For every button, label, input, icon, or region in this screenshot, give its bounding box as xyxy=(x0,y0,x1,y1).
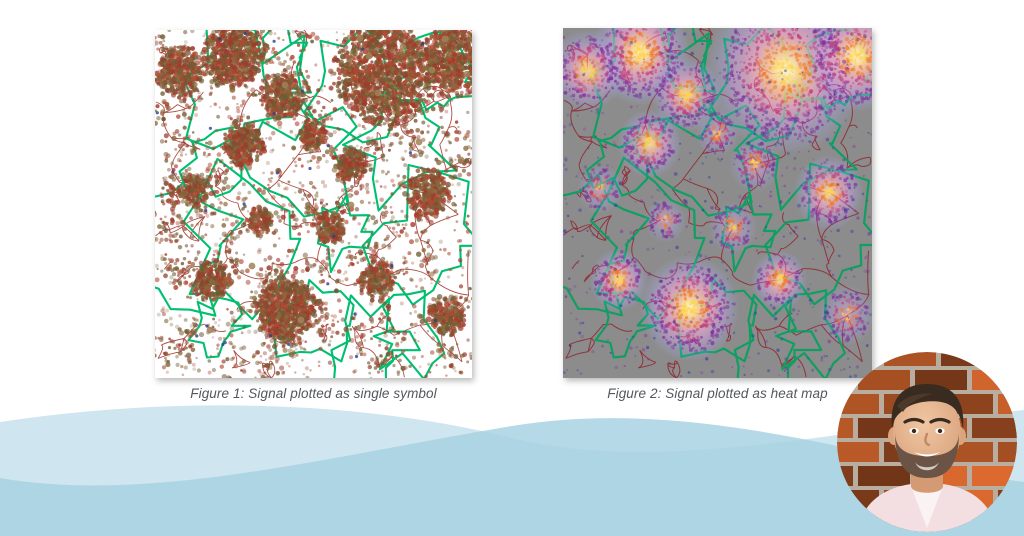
figure-1: Figure 1: Signal plotted as single symbo… xyxy=(155,30,472,378)
signal-point xyxy=(314,319,317,322)
signal-point xyxy=(366,291,369,294)
signal-point xyxy=(343,73,347,77)
signal-point xyxy=(354,99,360,105)
signal-point xyxy=(192,67,195,70)
signal-point xyxy=(385,42,389,46)
signal-point xyxy=(243,142,248,147)
signal-point xyxy=(248,135,251,138)
signal-point xyxy=(395,92,398,95)
signal-point xyxy=(414,109,417,112)
slide-canvas: Figure 1: Signal plotted as single symbo… xyxy=(0,0,1024,536)
signal-point xyxy=(179,99,184,104)
signal-point xyxy=(336,45,339,48)
signal-point xyxy=(265,83,269,87)
signal-point xyxy=(251,43,256,48)
signal-point xyxy=(268,103,272,107)
signal-point xyxy=(246,123,249,126)
signal-point xyxy=(429,37,432,40)
signal-point xyxy=(424,213,428,217)
signal-point xyxy=(379,41,384,46)
signal-point xyxy=(255,138,260,143)
signal-point xyxy=(341,231,345,235)
signal-point xyxy=(413,176,418,181)
signal-point xyxy=(284,324,288,328)
signal-point xyxy=(437,294,442,299)
signal-point xyxy=(332,82,336,86)
signal-point xyxy=(244,54,250,60)
signal-point xyxy=(227,151,232,156)
signal-point xyxy=(213,296,218,301)
signal-point xyxy=(362,109,366,113)
signal-point xyxy=(283,112,288,117)
signal-point xyxy=(214,52,218,56)
signal-point xyxy=(386,37,392,43)
signal-point xyxy=(463,84,467,88)
signal-point xyxy=(401,109,407,115)
signal-point xyxy=(330,71,333,74)
signal-point xyxy=(395,56,400,61)
signal-point xyxy=(355,31,359,35)
signal-point xyxy=(338,51,342,55)
signal-point xyxy=(279,318,282,321)
signal-point xyxy=(232,134,238,140)
signal-point xyxy=(350,116,353,119)
signal-point xyxy=(241,157,246,162)
signal-point xyxy=(376,72,380,76)
signal-point xyxy=(409,99,414,104)
signal-point xyxy=(293,92,297,96)
signal-point xyxy=(460,37,464,41)
signal-point xyxy=(408,115,413,120)
signal-point xyxy=(403,74,408,79)
signal-point xyxy=(401,63,407,69)
signal-point xyxy=(332,167,338,173)
signal-point xyxy=(207,272,212,277)
signal-point xyxy=(331,220,335,224)
signal-point xyxy=(214,35,218,39)
signal-point xyxy=(384,292,388,296)
signal-point xyxy=(382,30,388,36)
signal-point xyxy=(238,72,242,76)
signal-point xyxy=(265,295,268,298)
signal-point xyxy=(219,77,224,82)
signal-point xyxy=(185,55,188,58)
signal-point xyxy=(220,43,226,49)
signal-point xyxy=(286,295,290,299)
signal-point xyxy=(258,64,261,67)
signal-point xyxy=(188,91,191,94)
signal-point xyxy=(192,70,196,74)
signal-point xyxy=(256,151,259,154)
signal-point xyxy=(302,326,305,329)
signal-point xyxy=(366,45,370,49)
signal-point xyxy=(327,228,331,232)
signal-point xyxy=(376,288,380,292)
signal-point xyxy=(239,55,242,58)
signal-point xyxy=(398,63,401,66)
signal-point xyxy=(410,202,415,207)
signal-point xyxy=(259,152,263,156)
signal-point xyxy=(303,308,306,311)
signal-point xyxy=(389,72,395,78)
signal-point xyxy=(423,48,427,52)
signal-point xyxy=(219,261,222,264)
signal-point xyxy=(236,39,240,43)
signal-point xyxy=(221,289,226,294)
signal-point xyxy=(416,196,420,200)
signal-point xyxy=(440,60,444,64)
signal-point xyxy=(413,40,416,43)
signal-point xyxy=(373,50,378,55)
signal-point xyxy=(417,174,420,177)
signal-point xyxy=(443,192,447,196)
signal-point xyxy=(444,189,447,192)
signal-point xyxy=(427,183,432,188)
signal-point xyxy=(249,152,253,156)
signal-point xyxy=(408,83,412,87)
signal-point xyxy=(273,108,277,112)
signal-point xyxy=(386,97,390,101)
signal-point xyxy=(330,214,334,218)
signal-point xyxy=(414,61,419,66)
signal-point xyxy=(452,46,456,50)
signal-point xyxy=(322,240,326,244)
signal-point xyxy=(430,178,434,182)
signal-point xyxy=(249,40,252,43)
signal-point xyxy=(381,297,385,301)
signal-point xyxy=(231,83,236,88)
signal-point xyxy=(268,306,272,310)
signal-point xyxy=(409,51,414,56)
signal-point xyxy=(374,76,377,79)
signal-point xyxy=(428,169,433,174)
signal-point xyxy=(374,60,379,65)
signal-point xyxy=(408,183,412,187)
signal-point xyxy=(276,115,282,121)
signal-point xyxy=(255,154,259,158)
signal-point xyxy=(378,49,382,53)
signal-point xyxy=(440,80,445,85)
signal-point xyxy=(288,306,293,311)
signal-point xyxy=(377,36,381,40)
signal-point xyxy=(352,87,355,90)
signal-point xyxy=(261,304,265,308)
signal-point xyxy=(249,144,254,149)
signal-point xyxy=(293,284,299,290)
signal-point xyxy=(385,261,388,264)
signal-point xyxy=(290,114,294,118)
signal-point xyxy=(388,271,391,274)
signal-point xyxy=(270,92,273,95)
signal-point xyxy=(340,79,344,83)
signal-point xyxy=(196,55,201,60)
signal-point xyxy=(259,313,265,319)
signal-point xyxy=(273,321,276,324)
signal-point xyxy=(433,87,437,91)
signal-point xyxy=(426,83,431,88)
signal-point xyxy=(221,66,225,70)
signal-point xyxy=(399,100,405,106)
signal-point xyxy=(393,124,397,128)
signal-point xyxy=(365,267,370,272)
signal-point xyxy=(252,66,258,72)
signal-point xyxy=(415,53,420,58)
signal-point xyxy=(282,299,285,302)
signal-point xyxy=(256,319,259,322)
signal-point xyxy=(239,141,244,146)
signal-point xyxy=(293,78,297,82)
signal-point xyxy=(386,90,390,94)
signal-point xyxy=(293,84,298,89)
signal-point xyxy=(359,113,363,117)
map-single-symbol xyxy=(155,30,472,378)
signal-point xyxy=(264,321,269,326)
signal-point xyxy=(356,108,360,112)
signal-point xyxy=(398,94,402,98)
signal-point xyxy=(272,324,275,327)
signal-point xyxy=(317,230,321,234)
signal-point xyxy=(358,149,362,153)
signal-point xyxy=(451,41,455,45)
signal-point xyxy=(392,88,396,92)
signal-point xyxy=(186,78,190,82)
signal-point xyxy=(434,202,438,206)
signal-point xyxy=(252,53,256,57)
signal-point xyxy=(372,32,377,37)
signal-point xyxy=(422,57,427,62)
signal-point xyxy=(348,177,352,181)
signal-point xyxy=(417,57,422,62)
signal-point xyxy=(195,277,201,283)
signal-point xyxy=(362,280,365,283)
signal-point xyxy=(249,162,253,166)
signal-point xyxy=(261,284,266,289)
signal-point xyxy=(416,168,421,173)
signal-point xyxy=(234,35,238,39)
signal-point xyxy=(371,82,375,86)
signal-point xyxy=(243,67,249,73)
signal-point xyxy=(445,62,449,66)
signal-point xyxy=(276,322,281,327)
signal-point xyxy=(464,67,467,70)
signal-point xyxy=(188,57,192,61)
signal-point xyxy=(202,277,206,281)
signal-point xyxy=(419,98,424,103)
signal-point xyxy=(238,156,241,159)
signal-point xyxy=(350,35,355,40)
signal-point xyxy=(425,41,428,44)
signal-point xyxy=(255,309,259,313)
signal-point xyxy=(268,329,272,333)
signal-point xyxy=(440,207,445,212)
signal-point xyxy=(268,287,273,292)
signal-point xyxy=(242,61,248,67)
signal-point xyxy=(391,52,395,56)
signal-point xyxy=(457,80,462,85)
signal-point xyxy=(361,100,367,106)
signal-point xyxy=(370,60,373,63)
signal-point xyxy=(310,286,314,290)
signal-point xyxy=(422,205,428,211)
signal-point xyxy=(185,46,191,52)
signal-point xyxy=(365,92,369,96)
signal-point xyxy=(434,207,440,213)
signal-point xyxy=(229,87,235,93)
signal-point xyxy=(350,52,354,56)
signal-point xyxy=(173,46,176,49)
signal-point xyxy=(334,164,337,167)
signal-point xyxy=(410,71,413,74)
signal-point xyxy=(377,45,381,49)
signal-point xyxy=(400,72,403,75)
signal-point xyxy=(192,52,196,56)
signal-point xyxy=(208,41,214,47)
signal-point xyxy=(301,332,304,335)
signal-point xyxy=(377,107,381,111)
figure-1-image xyxy=(155,30,472,378)
signal-point xyxy=(266,74,272,80)
signal-point xyxy=(336,68,340,72)
signal-point xyxy=(338,218,341,221)
signal-point xyxy=(363,113,367,117)
signal-point xyxy=(447,195,453,201)
signal-point xyxy=(406,198,410,202)
signal-point xyxy=(261,89,264,92)
signal-point xyxy=(418,200,423,205)
signal-point xyxy=(374,40,379,45)
signal-point xyxy=(335,177,340,182)
signal-point xyxy=(429,210,434,215)
signal-point xyxy=(363,36,366,39)
signal-point xyxy=(351,42,354,45)
signal-point xyxy=(295,113,298,116)
signal-point xyxy=(211,258,215,262)
signal-point xyxy=(281,304,286,309)
signal-point xyxy=(435,176,439,180)
signal-point xyxy=(239,165,245,171)
signal-point xyxy=(242,49,246,53)
signal-point xyxy=(226,276,232,282)
signal-point xyxy=(463,57,467,61)
signal-point xyxy=(380,71,385,76)
signal-point xyxy=(187,74,190,77)
signal-point xyxy=(421,93,425,97)
signal-point xyxy=(252,59,256,63)
signal-point xyxy=(223,132,227,136)
signal-point xyxy=(240,30,244,34)
signal-point xyxy=(160,72,165,77)
signal-point xyxy=(178,67,184,73)
signal-point xyxy=(362,107,365,110)
signal-point xyxy=(225,43,228,46)
signal-point xyxy=(270,314,275,319)
signal-point xyxy=(372,289,376,293)
signal-point xyxy=(433,52,436,55)
signal-point xyxy=(196,66,201,71)
signal-point xyxy=(275,73,281,79)
signal-point xyxy=(286,312,290,316)
signal-point xyxy=(367,36,371,40)
signal-point xyxy=(299,280,304,285)
signal-point xyxy=(211,51,214,54)
signal-point xyxy=(288,280,291,283)
signal-point xyxy=(229,129,234,134)
signal-point xyxy=(261,100,265,104)
signal-point xyxy=(181,63,186,68)
signal-point xyxy=(389,112,392,115)
signal-point xyxy=(249,70,254,75)
signal-point xyxy=(358,72,362,76)
signal-point xyxy=(451,83,457,89)
signal-point xyxy=(337,76,341,80)
signal-point xyxy=(347,79,350,82)
signal-point xyxy=(286,90,290,94)
signal-point xyxy=(340,175,345,180)
signal-point xyxy=(337,160,341,164)
signal-point xyxy=(293,321,296,324)
signal-point xyxy=(196,77,200,81)
signal-point xyxy=(306,285,309,288)
signal-point xyxy=(225,285,229,289)
signal-point xyxy=(401,58,406,63)
signal-point xyxy=(261,103,264,106)
signal-point xyxy=(422,169,425,172)
